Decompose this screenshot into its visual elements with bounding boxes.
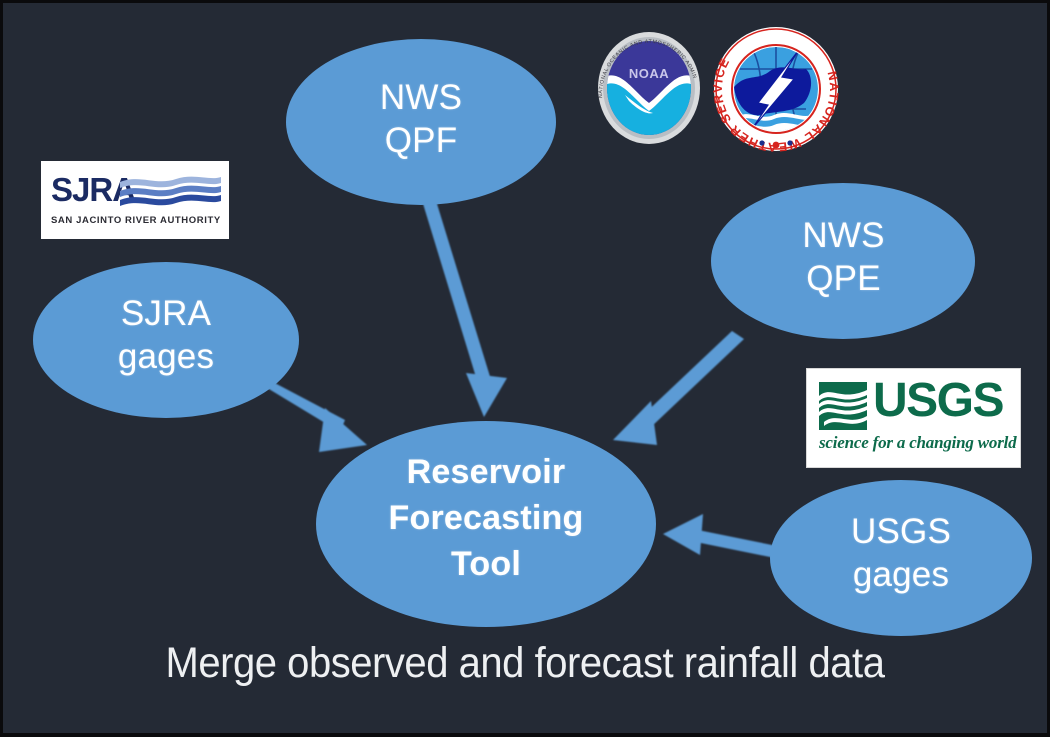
caption-text: Merge observed and forecast rainfall dat…	[40, 639, 1011, 688]
usgs-wave-mark-icon	[819, 382, 867, 430]
national-weather-service-logo-icon: NATIONAL WEATHER SERVICE	[712, 25, 840, 153]
usgs-wordmark: USGS	[873, 377, 1003, 425]
arrow-usgs-gages-to-tool	[663, 514, 782, 559]
node-reservoir-forecasting-tool[interactable]	[316, 421, 656, 627]
node-nws-qpe[interactable]	[711, 183, 975, 339]
diagram-slide: NWS QPF NWS QPE SJRA gages USGS gages Re…	[0, 0, 1050, 737]
arrow-nws-qpe-to-tool	[613, 331, 744, 445]
node-sjra-gages[interactable]	[33, 262, 299, 418]
noaa-wordmark: NOAA	[629, 66, 669, 81]
arrow-nws-qpf-to-tool	[413, 168, 507, 417]
sjra-waves-icon	[118, 173, 223, 207]
sjra-subtitle: SAN JACINTO RIVER AUTHORITY	[51, 215, 221, 226]
noaa-logo-icon: NATIONAL OCEANIC AND ATMOSPHERIC ADMIN N…	[595, 29, 703, 147]
node-usgs-gages[interactable]	[770, 480, 1032, 636]
sjra-logo: SJRA SAN JACINTO RIVER AUTHORITY	[41, 161, 229, 239]
usgs-tagline: science for a changing world	[819, 433, 1016, 453]
usgs-logo: USGS science for a changing world	[806, 368, 1021, 468]
node-nws-qpf[interactable]	[286, 39, 556, 205]
